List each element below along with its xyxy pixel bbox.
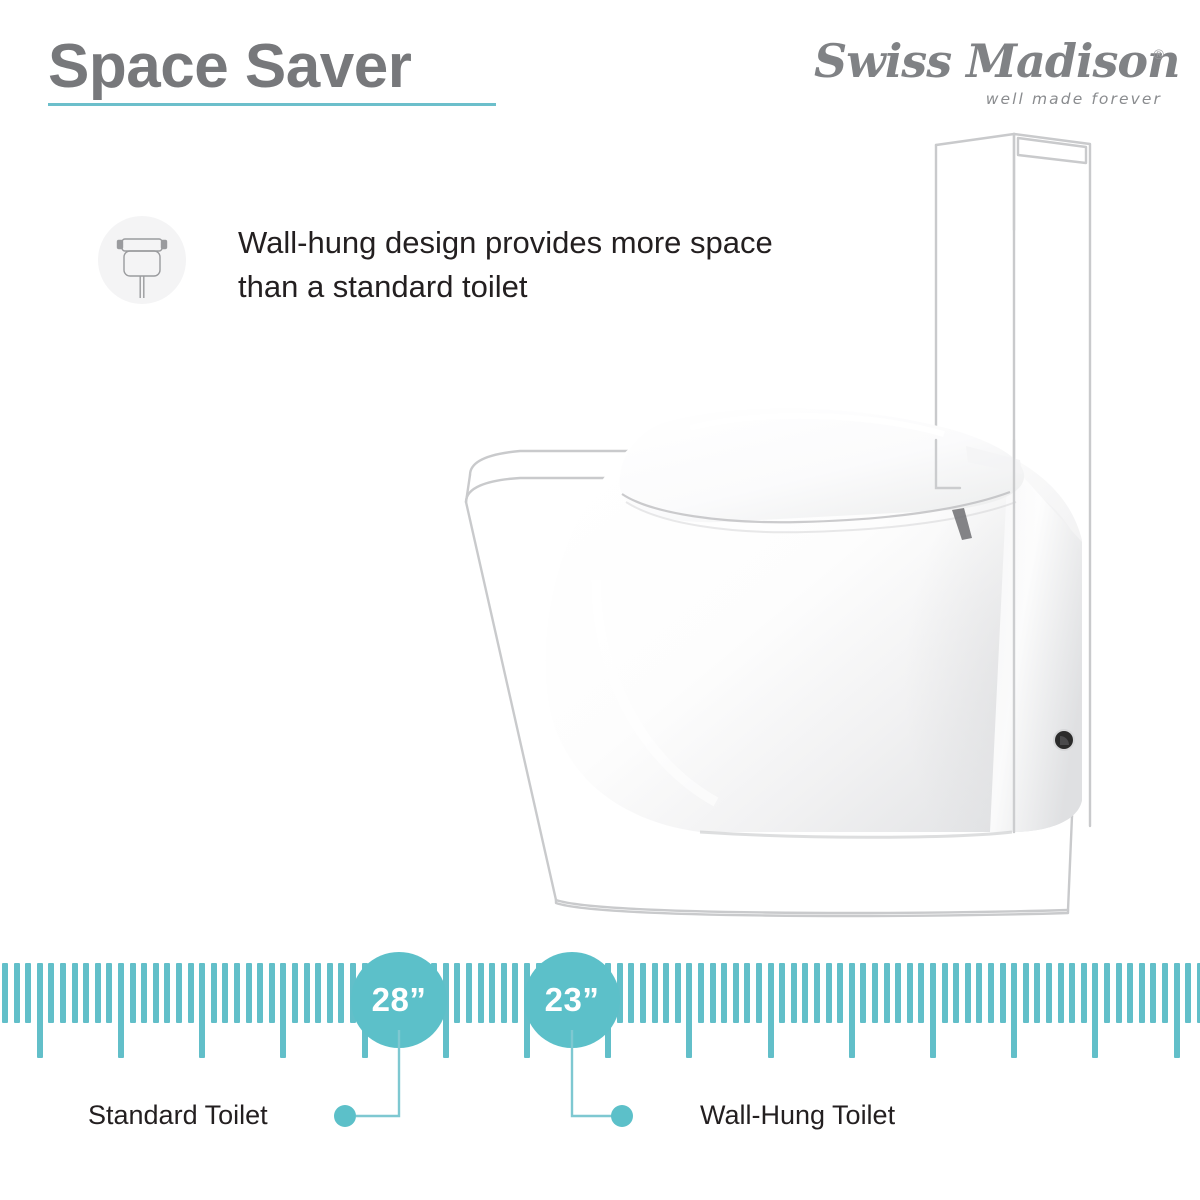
ruler-tick-minor [246,963,252,1023]
ruler-tick-minor [257,963,263,1023]
ruler-tick-minor [953,963,959,1023]
infographic-canvas: Space Saver Swiss Madison ® well made fo… [0,0,1200,1200]
ruler-tick-minor [25,963,31,1023]
ruler-tick-minor [814,963,820,1023]
product-illustration [0,110,1200,940]
ruler-tick-minor [2,963,8,1023]
ruler-tick-minor [1162,963,1168,1023]
page-title: Space Saver [48,36,411,98]
ruler-tick-minor [872,963,878,1023]
ruler-tick-minor [663,963,669,1023]
ruler-tick-minor [1081,963,1087,1023]
ruler-tick-minor [895,963,901,1023]
ruler-tick-minor [141,963,147,1023]
ruler-tick-minor [188,963,194,1023]
ruler-tick-minor [153,963,159,1023]
ruler-tick-minor [918,963,924,1023]
ruler-tick-minor [802,963,808,1023]
ruler-tick-minor [1185,963,1191,1023]
ruler-tick-minor [164,963,170,1023]
ruler-tick-minor [1023,963,1029,1023]
ruler-tick-minor [860,963,866,1023]
ruler-tick-minor [14,963,20,1023]
ruler-tick-minor [501,963,507,1023]
ruler-tick-minor [489,963,495,1023]
callout-dot-standard [334,1105,356,1127]
ruler-tick-minor [1069,963,1075,1023]
ruler-tick-minor [512,963,518,1023]
brand-name: Swiss Madison [814,38,1144,84]
ruler-tick-minor [211,963,217,1023]
title-underline [48,103,496,106]
ruler-tick-minor [1116,963,1122,1023]
flush-hole-icon [1053,729,1075,751]
ruler-tick-minor [721,963,727,1023]
ruler-tick-minor [1150,963,1156,1023]
ruler-tick-minor [292,963,298,1023]
ruler-tick-minor [1034,963,1040,1023]
ruler-tick-minor [478,963,484,1023]
ruler-tick-minor [1046,963,1052,1023]
ruler-tick-minor [327,963,333,1023]
ruler-tick-minor [1139,963,1145,1023]
callout-dot-wallhung [611,1105,633,1127]
ruler-tick-minor [675,963,681,1023]
ruler-tick-minor [315,963,321,1023]
ruler-tick-minor [1000,963,1006,1023]
ruler-tick-minor [176,963,182,1023]
ruler-tick-minor [1058,963,1064,1023]
ruler-tick-minor [907,963,913,1023]
ruler-tick-minor [130,963,136,1023]
ruler-tick-minor [640,963,646,1023]
ruler-tick-minor [884,963,890,1023]
ruler-tick-minor [304,963,310,1023]
ruler-tick-minor [756,963,762,1023]
callout-label-wallhung: Wall-Hung Toilet [700,1100,895,1131]
ruler-tick-minor [826,963,832,1023]
ruler-tick-minor [837,963,843,1023]
ruler-tick-minor [976,963,982,1023]
ruler-tick-minor [628,963,634,1023]
registered-trademark-icon: ® [1154,46,1164,62]
wall-hung-toilet-photo [546,409,1082,838]
ruler-tick-minor [95,963,101,1023]
ruler-tick-minor [83,963,89,1023]
ruler-tick-minor [48,963,54,1023]
ruler-tick-minor [652,963,658,1023]
ruler-tick-minor [965,963,971,1023]
ruler-tick-minor [269,963,275,1023]
ruler-tick-minor [466,963,472,1023]
ruler-tick-minor [1104,963,1110,1023]
ruler-tick-minor [942,963,948,1023]
ruler-tick-minor [744,963,750,1023]
ruler-tick-minor [779,963,785,1023]
callout-label-standard: Standard Toilet [88,1100,268,1131]
ruler-tick-minor [454,963,460,1023]
ruler-tick-minor [988,963,994,1023]
ruler-tick-minor [1127,963,1133,1023]
ruler-tick-minor [60,963,66,1023]
ruler-tick-minor [338,963,344,1023]
ruler-tick-minor [234,963,240,1023]
brand-logo: Swiss Madison ® well made forever [814,38,1164,114]
brand-tagline: well made forever [986,90,1162,108]
ruler-tick-minor [106,963,112,1023]
ruler-tick-minor [698,963,704,1023]
ruler-tick-minor [222,963,228,1023]
ruler-tick-minor [72,963,78,1023]
ruler-tick-minor [710,963,716,1023]
ruler-tick-minor [733,963,739,1023]
ruler-tick-minor [791,963,797,1023]
